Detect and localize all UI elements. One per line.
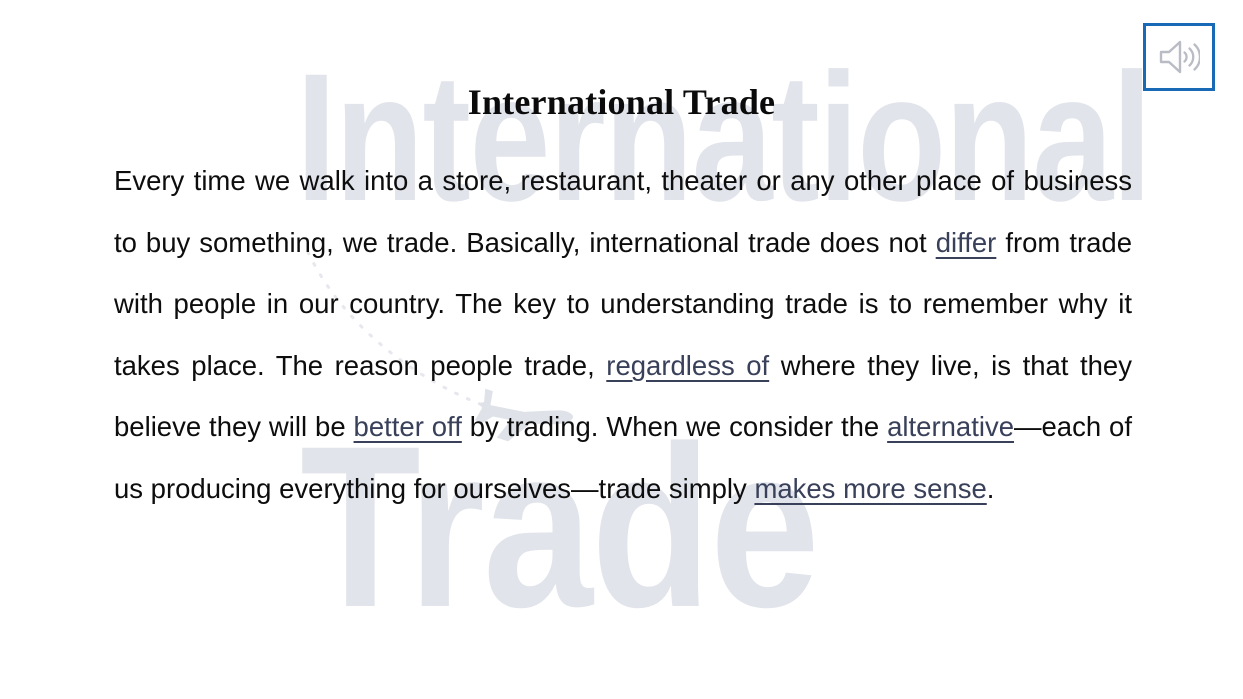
audio-play-button[interactable] (1143, 23, 1215, 91)
passage-body: Every time we walk into a store, restaur… (114, 150, 1132, 519)
page-title: International Trade (0, 80, 1243, 124)
passage-text: . (987, 473, 995, 504)
glossary-link-2[interactable]: better off (354, 411, 462, 442)
glossary-link-4[interactable]: makes more sense (754, 473, 986, 504)
speaker-icon (1158, 39, 1200, 75)
lesson-page: International Trade International Trade … (0, 0, 1243, 699)
glossary-link-3[interactable]: alternative (887, 411, 1014, 442)
glossary-link-0[interactable]: differ (936, 227, 997, 258)
passage-text: by trading. When we consider the (462, 411, 887, 442)
glossary-link-1[interactable]: regardless of (606, 350, 769, 381)
